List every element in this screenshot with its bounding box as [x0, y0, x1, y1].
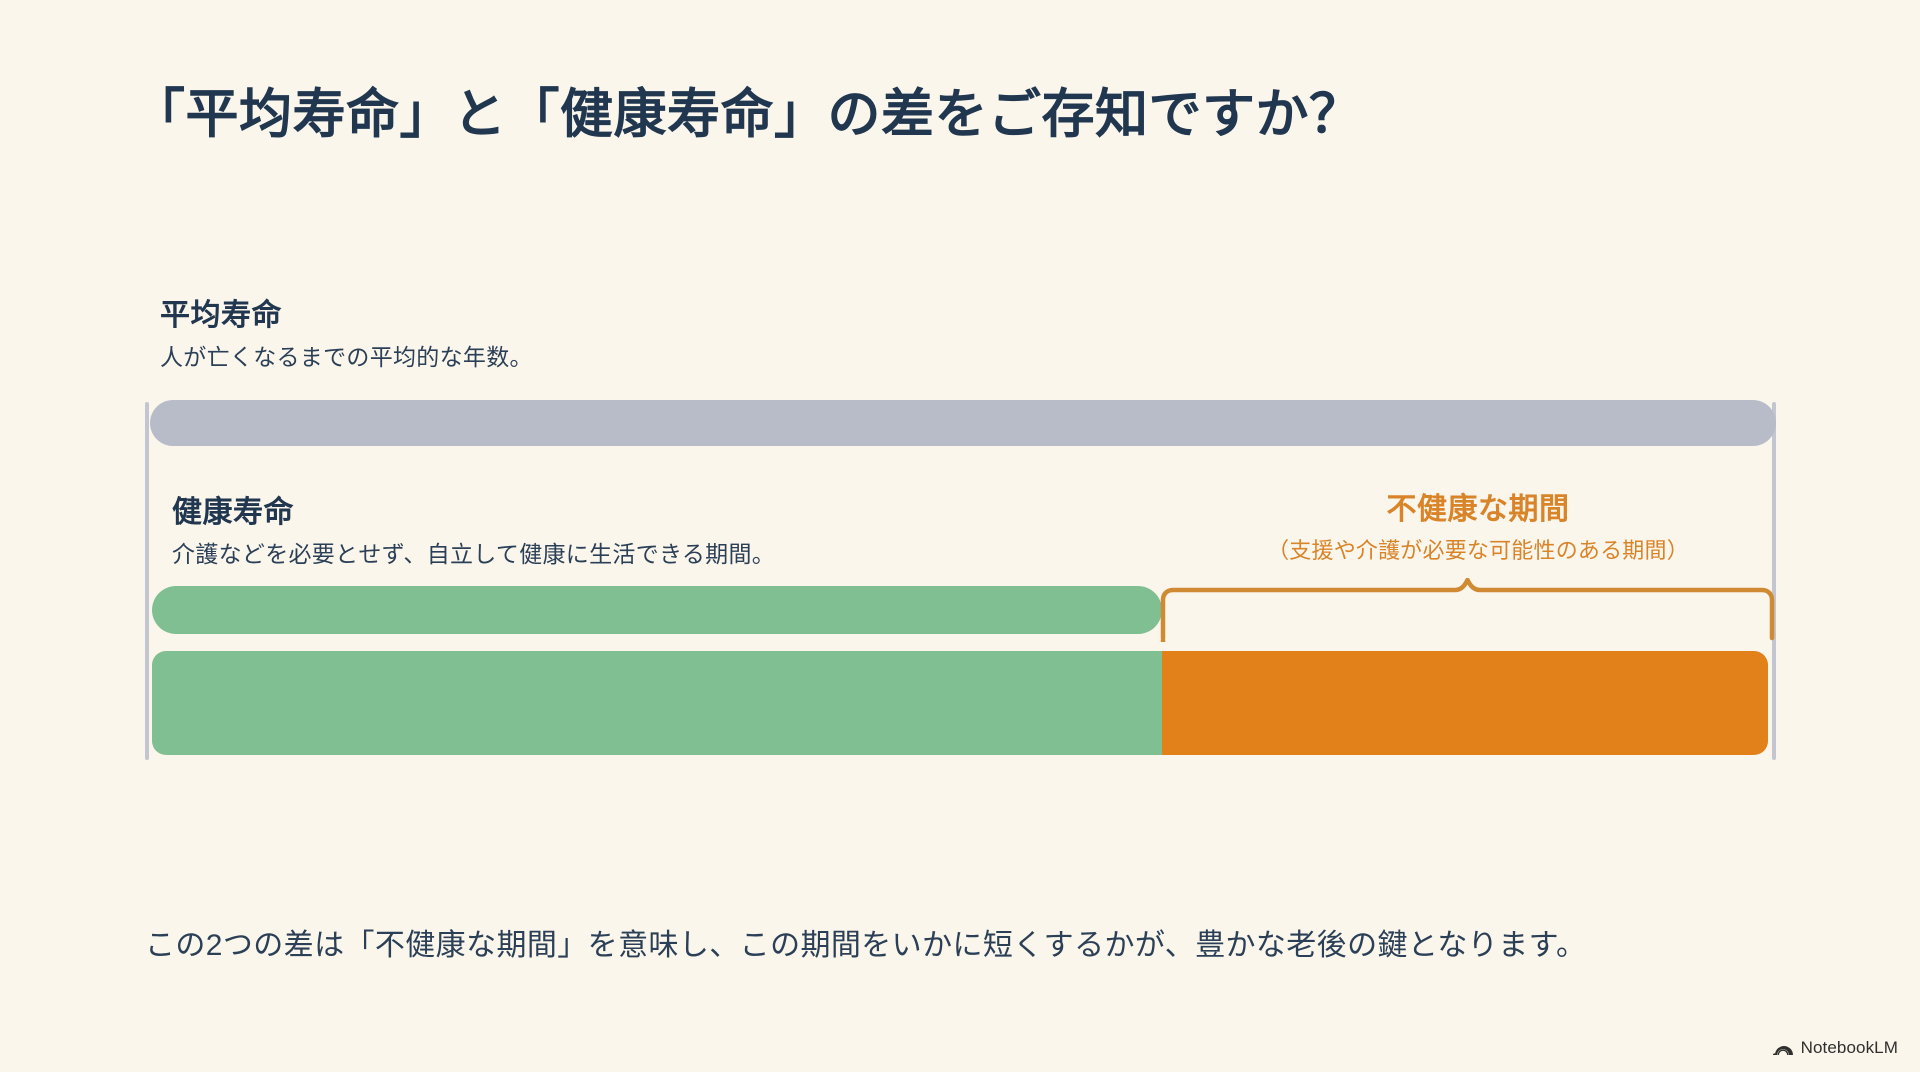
notebooklm-brand-text: NotebookLM: [1801, 1038, 1898, 1058]
unhealthy-period-label: 不健康な期間: [1183, 484, 1773, 528]
notebooklm-brand: NotebookLM: [1772, 1038, 1898, 1058]
healthy-life-bar: [152, 586, 1162, 634]
slide-canvas: 「平均寿命」と「健康寿命」の差をご存知ですか？ 平均寿命 人が亡くなるまでの平均…: [0, 0, 1920, 1072]
combined-bar-unhealthy-segment: [1162, 651, 1768, 755]
slide-caption: この2つの差は「不健康な期間」を意味し、この期間をいかに短くするかが、豊かな老後…: [145, 920, 1586, 964]
healthy-life-description: 介護などを必要とせず、自立して健康に生活できる期間。: [172, 535, 775, 569]
page-title: 「平均寿命」と「健康寿命」の差をご存知ですか？: [132, 82, 1363, 148]
diagram-rail-left: [145, 402, 149, 760]
healthy-life-label: 健康寿命: [172, 487, 294, 531]
notebooklm-logo-icon: [1772, 1039, 1794, 1057]
average-life-label: 平均寿命: [160, 290, 282, 334]
unhealthy-period-description: （支援や介護が必要な可能性のある期間）: [1183, 533, 1773, 565]
combined-bar-healthy-segment: [152, 651, 1162, 755]
life-expectancy-diagram: 平均寿命 人が亡くなるまでの平均的な年数。 健康寿命 介護などを必要とせず、自立…: [0, 0, 1920, 1072]
average-life-description: 人が亡くなるまでの平均的な年数。: [160, 338, 533, 372]
combined-life-bar: [152, 651, 1768, 755]
unhealthy-period-brace-icon: [1155, 578, 1780, 642]
average-life-bar: [150, 400, 1776, 446]
